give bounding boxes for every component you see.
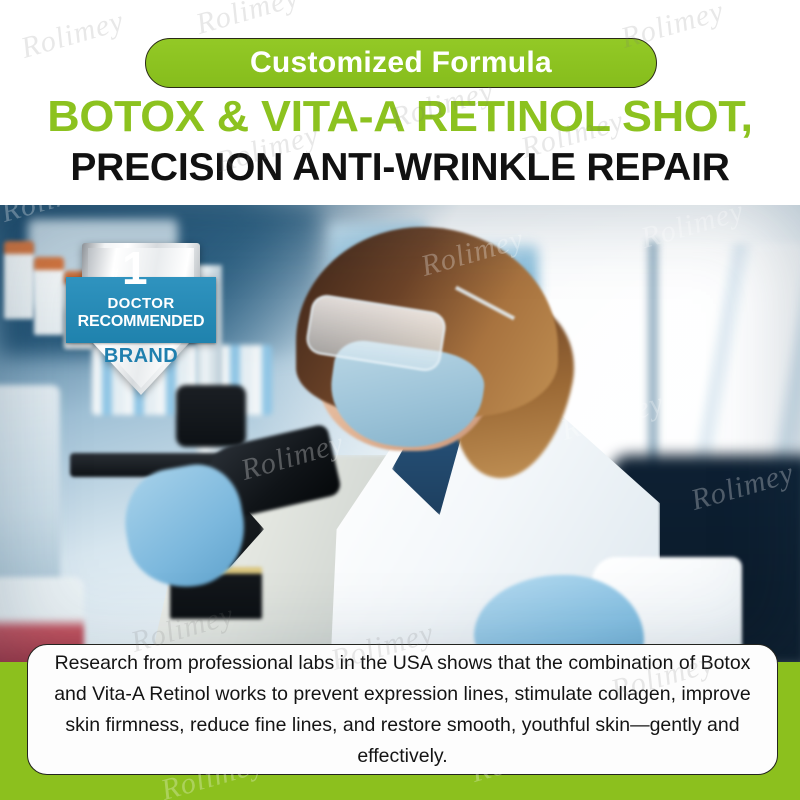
pill-label: Customized Formula <box>250 46 552 80</box>
badge-hash: # <box>112 266 119 280</box>
customized-formula-badge: Customized Formula <box>145 38 657 88</box>
subheadline: PRECISION ANTI-WRINKLE REPAIR <box>0 146 800 190</box>
headline: BOTOX & VITA-A RETINOL SHOT, <box>0 92 800 142</box>
badge-recommended-label: RECOMMENDED <box>66 313 216 331</box>
description-card: Research from professional labs in the U… <box>27 644 778 775</box>
badge-doctor-label: DOCTOR <box>66 295 216 312</box>
doctor-recommended-badge: BRAND # 1 DOCTOR RECOMMENDED <box>66 243 216 397</box>
badge-brand-label: BRAND <box>66 345 216 368</box>
badge-rank: 1 <box>122 245 148 291</box>
description-text: Research from professional labs in the U… <box>50 648 755 772</box>
watermark: Rolimey <box>17 4 128 66</box>
promo-poster: Customized Formula BOTOX & VITA-A RETINO… <box>0 0 800 800</box>
watermark: Rolimey <box>192 0 303 42</box>
